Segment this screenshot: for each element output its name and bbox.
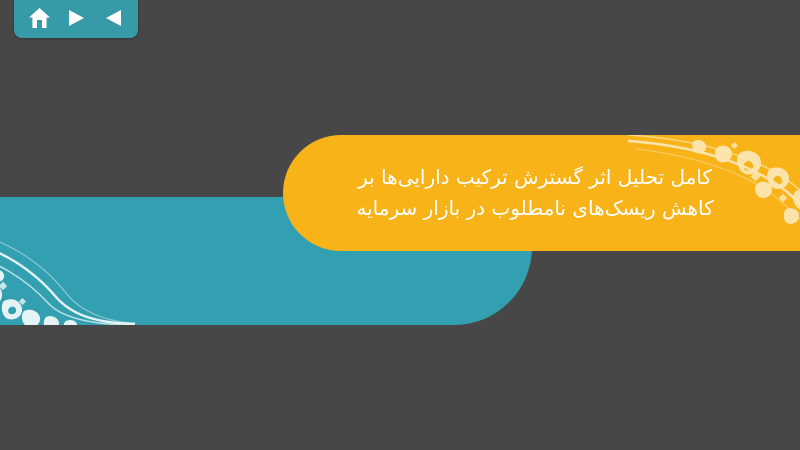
forward-triangle-icon: [68, 9, 85, 27]
slide-title-line-1: کامل تحلیل اثر گسترش ترکیب دارایی‌ها بر: [323, 162, 747, 193]
slide-canvas: کامل تحلیل اثر گسترش ترکیب دارایی‌ها بر …: [0, 0, 800, 450]
slide-title: کامل تحلیل اثر گسترش ترکیب دارایی‌ها بر …: [283, 162, 800, 224]
back-triangle-icon: [105, 9, 122, 27]
navigation-toolbar[interactable]: [14, 0, 138, 38]
back-button[interactable]: [98, 4, 128, 32]
home-icon: [28, 7, 51, 29]
arabesque-ornament-icon: [0, 197, 135, 325]
home-button[interactable]: [24, 4, 54, 32]
forward-button[interactable]: [61, 4, 91, 32]
slide-title-line-2: کاهش ریسک‌های نامطلوب در بازار سرمایه: [323, 193, 747, 224]
title-panel: کامل تحلیل اثر گسترش ترکیب دارایی‌ها بر …: [283, 135, 800, 251]
